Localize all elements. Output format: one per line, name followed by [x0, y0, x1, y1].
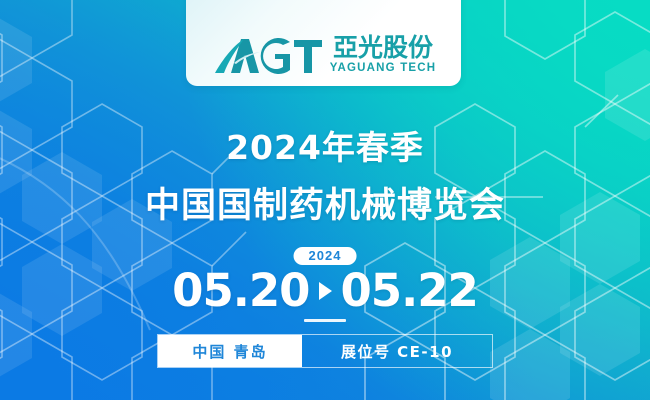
location-label: 中国 青岛: [158, 335, 302, 367]
title-line-2: 中国国制药机械博览会: [0, 177, 650, 228]
date-end: 05.22: [341, 268, 478, 313]
booth-label: 展位号 CE-10: [302, 335, 492, 367]
date-underline-divider: [304, 319, 346, 322]
date-start: 05.20: [172, 268, 309, 313]
title-line-1: 2024年春季: [0, 121, 650, 169]
logo-company-names: 亞光股份 YAGUANG TECH: [330, 35, 437, 75]
agt-logo-icon: [211, 35, 323, 75]
play-triangle-icon: [319, 282, 332, 300]
logo-company-name-en: YAGUANG TECH: [330, 63, 437, 75]
logo-lockup: 亞光股份 YAGUANG TECH: [211, 35, 437, 75]
info-bar: 中国 青岛 展位号 CE-10: [157, 334, 493, 368]
date-range: 05.20 05.22: [0, 268, 650, 313]
logo-company-name-cn: 亞光股份: [333, 35, 433, 60]
year-badge: 2024: [294, 247, 357, 265]
logo-card: 亞光股份 YAGUANG TECH: [186, 0, 461, 86]
exhibition-banner: 亞光股份 YAGUANG TECH 2024年春季 中国国制药机械博览会 202…: [0, 0, 650, 400]
